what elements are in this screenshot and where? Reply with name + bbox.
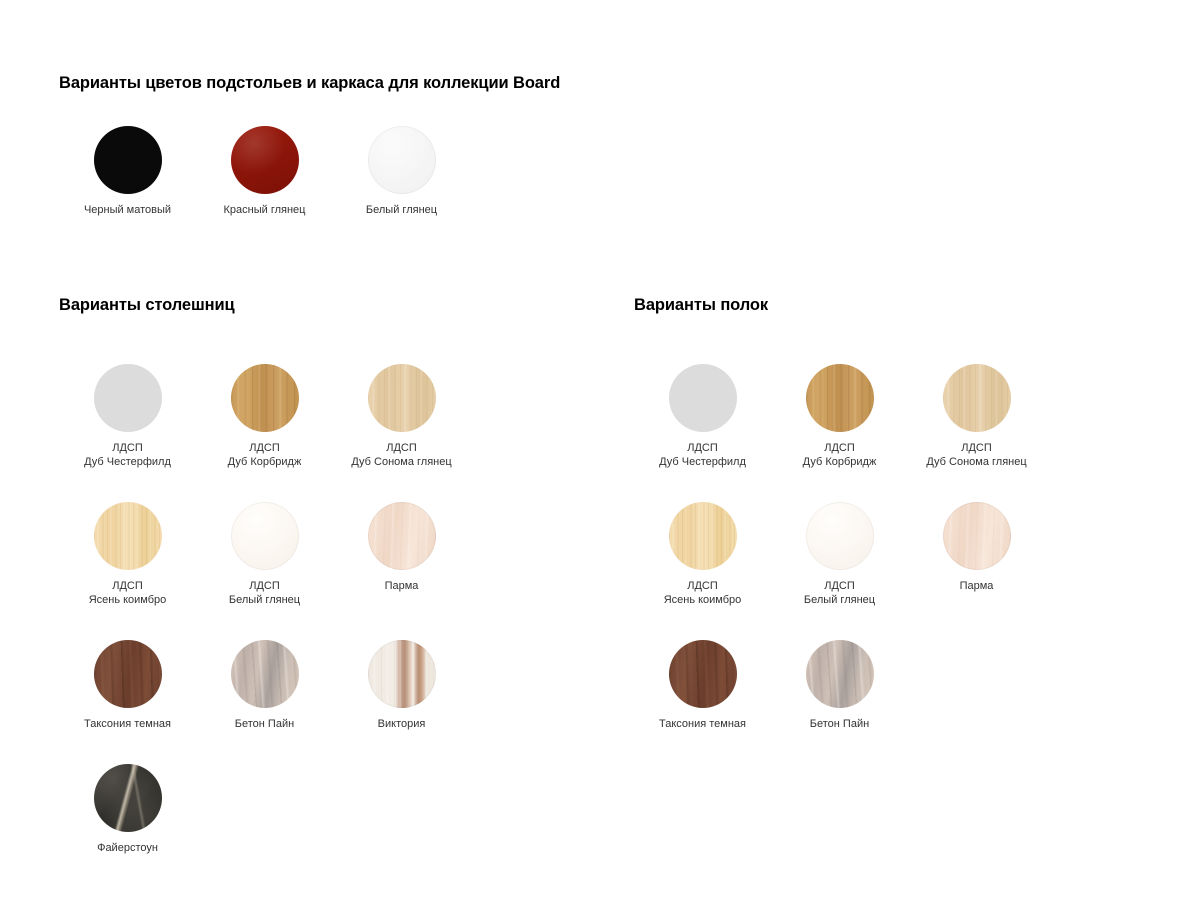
swatch-label-line1: ЛДСП — [89, 579, 167, 593]
swatch-label: Красный глянец — [224, 203, 306, 217]
swatch-бетон-пайн[interactable]: Бетон Пайн — [771, 640, 908, 731]
swatch-label: ЛДСПДуб Честерфилд — [84, 441, 171, 469]
swatch-label: Бетон Пайн — [810, 717, 869, 731]
swatch-row: Файерстоун — [59, 764, 559, 855]
swatch-label-line1: Черный матовый — [84, 203, 171, 217]
swatch-лдсп-белый-глянец[interactable]: ЛДСПБелый глянец — [196, 502, 333, 607]
swatch-белый-глянец[interactable]: Белый глянец — [333, 126, 470, 217]
swatch-бетон-пайн[interactable]: Бетон Пайн — [196, 640, 333, 731]
swatch-label-line2: Дуб Корбридж — [228, 455, 302, 469]
swatch-disc-лдсп-дуб-честерфилд[interactable] — [669, 364, 737, 432]
swatch-label-line1: ЛДСП — [803, 441, 877, 455]
swatch-disc-таксония-темная[interactable] — [669, 640, 737, 708]
swatch-label-line1: ЛДСП — [659, 441, 746, 455]
color-options-page: Варианты цветов подстольев и каркаса для… — [0, 0, 1200, 900]
swatch-лдсп-дуб-сонома-глянец[interactable]: ЛДСПДуб Сонома глянец — [333, 364, 470, 469]
swatch-label: Бетон Пайн — [235, 717, 294, 731]
tabletop-swatch-grid: ЛДСПДуб ЧестерфилдЛДСПДуб КорбриджЛДСПДу… — [59, 364, 559, 855]
swatch-row: ЛДСПДуб ЧестерфилдЛДСПДуб КорбриджЛДСПДу… — [59, 364, 559, 469]
swatch-disc-черный-матовый[interactable] — [94, 126, 162, 194]
swatch-label-line1: ЛДСП — [229, 579, 300, 593]
swatch-label-line2: Дуб Сонома глянец — [926, 455, 1026, 469]
page-title: Варианты цветов подстольев и каркаса для… — [59, 74, 560, 93]
swatch-label-line1: Белый глянец — [366, 203, 437, 217]
swatch-виктория[interactable]: Виктория — [333, 640, 470, 731]
tabletop-section-title: Варианты столешниц — [59, 296, 559, 315]
swatch-label: Парма — [960, 579, 994, 593]
swatch-disc-парма[interactable] — [368, 502, 436, 570]
swatch-disc-бетон-пайн[interactable] — [806, 640, 874, 708]
swatch-label-line2: Дуб Честерфилд — [84, 455, 171, 469]
swatch-label-line2: Ясень коимбро — [89, 593, 167, 607]
swatch-label: Парма — [385, 579, 419, 593]
swatch-лдсп-ясень-коимбро[interactable]: ЛДСПЯсень коимбро — [59, 502, 196, 607]
swatch-disc-файерстоун[interactable] — [94, 764, 162, 832]
shelf-swatch-grid: ЛДСПДуб ЧестерфилдЛДСПДуб КорбриджЛДСПДу… — [634, 364, 1134, 731]
swatch-label: Таксония темная — [659, 717, 746, 731]
swatch-label-line1: Виктория — [378, 717, 426, 731]
swatch-disc-лдсп-дуб-сонома-глянец[interactable] — [943, 364, 1011, 432]
swatch-label: Таксония темная — [84, 717, 171, 731]
swatch-парма[interactable]: Парма — [333, 502, 470, 607]
shelf-section-title: Варианты полок — [634, 296, 1134, 315]
swatch-таксония-темная[interactable]: Таксония темная — [59, 640, 196, 731]
swatch-disc-лдсп-дуб-сонома-глянец[interactable] — [368, 364, 436, 432]
swatch-черный-матовый[interactable]: Черный матовый — [59, 126, 196, 217]
swatch-label-line2: Белый глянец — [804, 593, 875, 607]
swatch-label: ЛДСПДуб Честерфилд — [659, 441, 746, 469]
swatch-лдсп-дуб-корбридж[interactable]: ЛДСПДуб Корбридж — [196, 364, 333, 469]
swatch-label-line1: Красный глянец — [224, 203, 306, 217]
swatch-лдсп-дуб-корбридж[interactable]: ЛДСПДуб Корбридж — [771, 364, 908, 469]
shelf-options-section: Варианты полок ЛДСПДуб ЧестерфилдЛДСПДуб… — [634, 296, 1134, 731]
swatch-disc-лдсп-ясень-коимбро[interactable] — [669, 502, 737, 570]
swatch-label-line2: Дуб Честерфилд — [659, 455, 746, 469]
swatch-label-line1: Парма — [385, 579, 419, 593]
swatch-файерстоун[interactable]: Файерстоун — [59, 764, 196, 855]
swatch-лдсп-белый-глянец[interactable]: ЛДСПБелый глянец — [771, 502, 908, 607]
swatch-disc-бетон-пайн[interactable] — [231, 640, 299, 708]
swatch-disc-лдсп-белый-глянец[interactable] — [806, 502, 874, 570]
swatch-label-line2: Дуб Сонома глянец — [351, 455, 451, 469]
swatch-label-line2: Ясень коимбро — [664, 593, 742, 607]
swatch-парма[interactable]: Парма — [908, 502, 1045, 607]
swatch-disc-виктория[interactable] — [368, 640, 436, 708]
swatch-label: Белый глянец — [366, 203, 437, 217]
swatch-label-line2: Дуб Корбридж — [803, 455, 877, 469]
swatch-label-line1: Таксония темная — [659, 717, 746, 731]
swatch-label: ЛДСПДуб Сонома глянец — [926, 441, 1026, 469]
swatch-row: Черный матовыйКрасный глянецБелый глянец — [59, 126, 470, 217]
swatch-label-line1: ЛДСП — [228, 441, 302, 455]
swatch-лдсп-дуб-сонома-глянец[interactable]: ЛДСПДуб Сонома глянец — [908, 364, 1045, 469]
swatch-таксония-темная[interactable]: Таксония темная — [634, 640, 771, 731]
swatch-label-line1: ЛДСП — [664, 579, 742, 593]
swatch-label-line1: Таксония темная — [84, 717, 171, 731]
swatch-disc-лдсп-белый-глянец[interactable] — [231, 502, 299, 570]
swatch-disc-парма[interactable] — [943, 502, 1011, 570]
frame-colors-section: Черный матовыйКрасный глянецБелый глянец — [59, 126, 470, 217]
swatch-disc-белый-глянец[interactable] — [368, 126, 436, 194]
swatch-label: Файерстоун — [97, 841, 158, 855]
swatch-лдсп-дуб-честерфилд[interactable]: ЛДСПДуб Честерфилд — [59, 364, 196, 469]
swatch-disc-лдсп-ясень-коимбро[interactable] — [94, 502, 162, 570]
swatch-row: ЛДСПДуб ЧестерфилдЛДСПДуб КорбриджЛДСПДу… — [634, 364, 1134, 469]
swatch-label: ЛДСПБелый глянец — [229, 579, 300, 607]
swatch-label-line1: Бетон Пайн — [235, 717, 294, 731]
swatch-label: ЛДСПЯсень коимбро — [664, 579, 742, 607]
swatch-row: ЛДСПЯсень коимброЛДСПБелый глянецПарма — [634, 502, 1134, 607]
swatch-label-line1: ЛДСП — [351, 441, 451, 455]
swatch-row: Таксония темнаяБетон Пайн — [634, 640, 1134, 731]
swatch-label: ЛДСПЯсень коимбро — [89, 579, 167, 607]
swatch-disc-таксония-темная[interactable] — [94, 640, 162, 708]
swatch-label: ЛДСПДуб Сонома глянец — [351, 441, 451, 469]
swatch-label-line1: Парма — [960, 579, 994, 593]
swatch-label: ЛДСПДуб Корбридж — [803, 441, 877, 469]
tabletop-options-section: Варианты столешниц ЛДСПДуб ЧестерфилдЛДС… — [59, 296, 559, 855]
swatch-label: Виктория — [378, 717, 426, 731]
swatch-label-line1: Файерстоун — [97, 841, 158, 855]
swatch-row: Таксония темнаяБетон ПайнВиктория — [59, 640, 559, 731]
swatch-лдсп-дуб-честерфилд[interactable]: ЛДСПДуб Честерфилд — [634, 364, 771, 469]
swatch-label-line1: Бетон Пайн — [810, 717, 869, 731]
swatch-label: ЛДСПДуб Корбридж — [228, 441, 302, 469]
swatch-disc-лдсп-дуб-корбридж[interactable] — [806, 364, 874, 432]
swatch-disc-красный-глянец[interactable] — [231, 126, 299, 194]
swatch-label-line1: ЛДСП — [804, 579, 875, 593]
swatch-красный-глянец[interactable]: Красный глянец — [196, 126, 333, 217]
swatch-label: Черный матовый — [84, 203, 171, 217]
swatch-label-line1: ЛДСП — [926, 441, 1026, 455]
swatch-label-line1: ЛДСП — [84, 441, 171, 455]
swatch-label: ЛДСПБелый глянец — [804, 579, 875, 607]
swatch-лдсп-ясень-коимбро[interactable]: ЛДСПЯсень коимбро — [634, 502, 771, 607]
swatch-label-line2: Белый глянец — [229, 593, 300, 607]
swatch-row: ЛДСПЯсень коимброЛДСПБелый глянецПарма — [59, 502, 559, 607]
swatch-disc-лдсп-дуб-корбридж[interactable] — [231, 364, 299, 432]
swatch-disc-лдсп-дуб-честерфилд[interactable] — [94, 364, 162, 432]
